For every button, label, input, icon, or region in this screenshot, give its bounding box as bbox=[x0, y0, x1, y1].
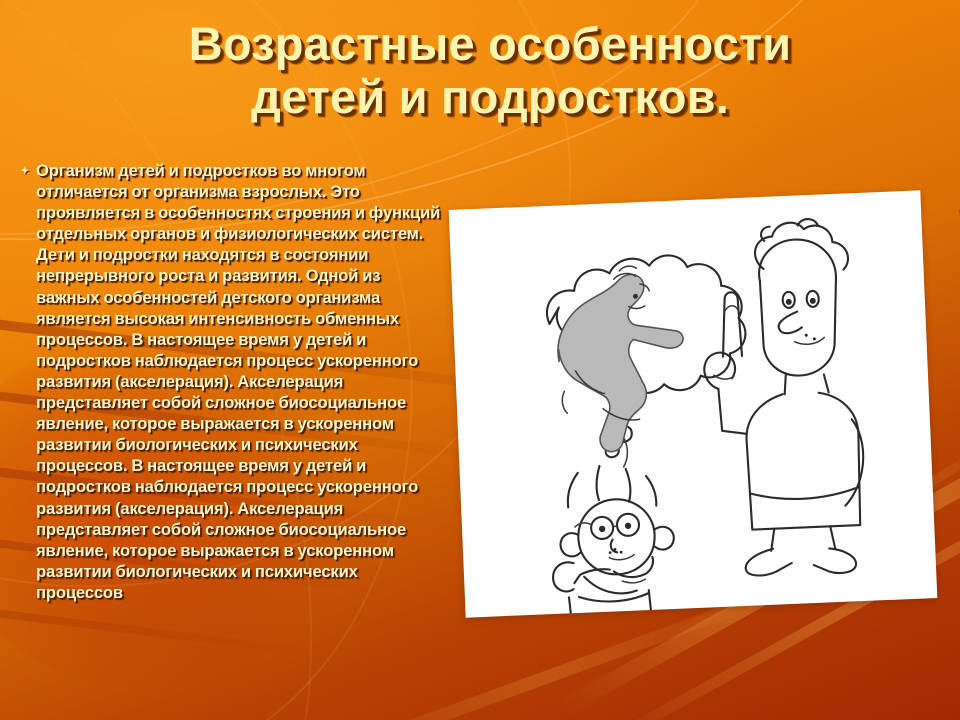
body-paragraph: Организм детей и подростков во многом от… bbox=[36, 160, 446, 603]
crouching-caveman-figure bbox=[554, 264, 688, 470]
cartoon-illustration bbox=[449, 190, 938, 617]
slide-title-line-2: детей и подростков. bbox=[60, 71, 920, 124]
tall-character-pointing bbox=[698, 217, 868, 578]
short-character-with-glasses bbox=[548, 463, 679, 618]
bullet-marker-icon: ✦ bbox=[14, 160, 36, 603]
illustration-card bbox=[449, 190, 938, 617]
presentation-slide: Возрастные особенности детей и подростко… bbox=[0, 0, 960, 720]
content-bullet-item: ✦ Организм детей и подростков во многом … bbox=[14, 160, 446, 603]
slide-title: Возрастные особенности детей и подростко… bbox=[60, 18, 920, 123]
slide-title-line-1: Возрастные особенности bbox=[189, 17, 792, 70]
